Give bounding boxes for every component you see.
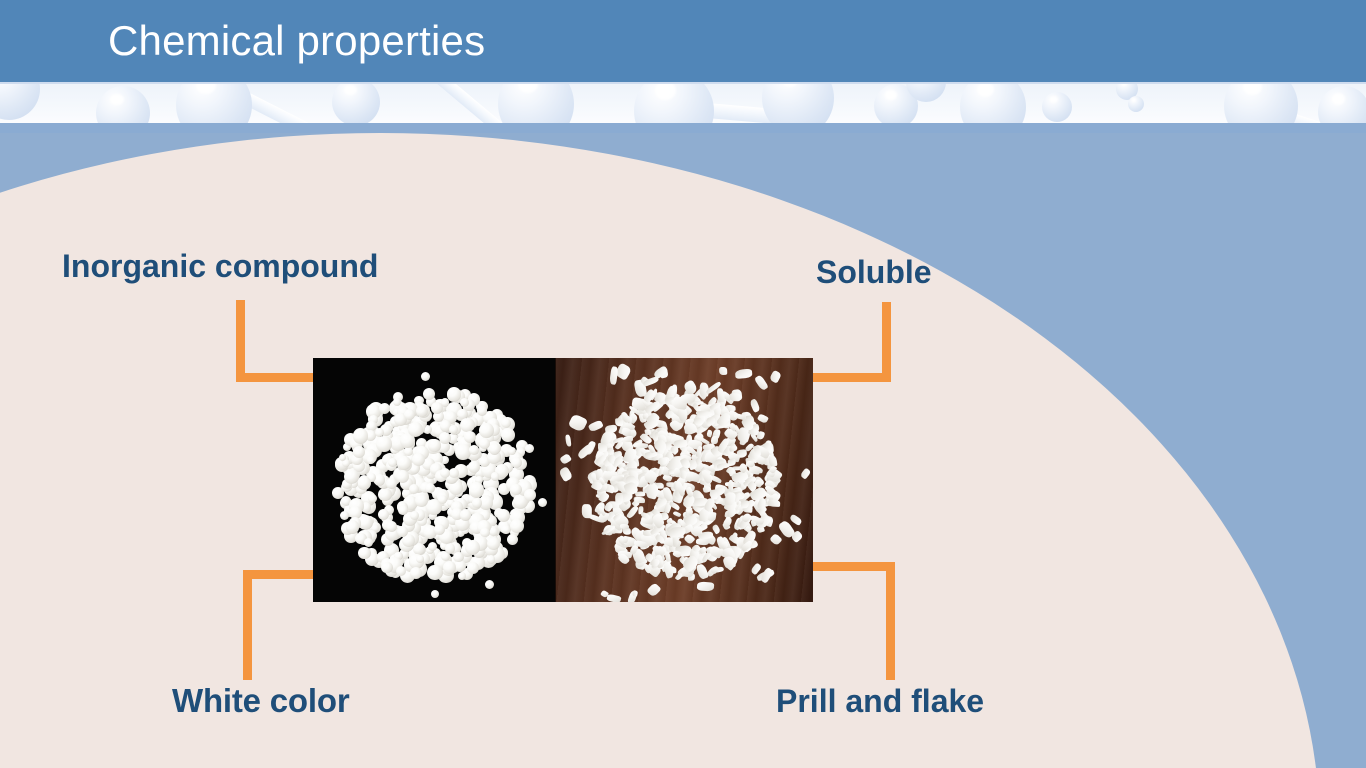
prill-particle [472, 498, 481, 507]
prill-particle [467, 562, 479, 574]
prill-particle [460, 418, 475, 433]
molecule-ball-icon [498, 82, 574, 123]
flake-particle [757, 413, 769, 423]
connector-segment-horizontal [236, 373, 320, 382]
prill-particle [510, 519, 524, 533]
prill-particle [415, 494, 428, 507]
prill-particle [353, 446, 365, 458]
flake-particle [696, 411, 712, 416]
connector-segment-vertical [886, 562, 895, 680]
prill-particle [469, 482, 485, 498]
flake-particle [672, 510, 681, 517]
flake-particle [746, 460, 754, 467]
prill-particle [379, 403, 390, 414]
flake-particle [768, 499, 780, 506]
connector-segment-vertical [243, 570, 252, 680]
label-white-color[interactable]: White color [172, 681, 349, 721]
prill-particle [428, 439, 440, 451]
prill-particle [368, 494, 377, 503]
prill-particle [404, 409, 415, 420]
flake-particle [588, 420, 604, 433]
flake-particle [717, 388, 725, 403]
prills-pane [313, 358, 555, 602]
prill-particle [346, 520, 360, 534]
molecule-ball-icon [1042, 92, 1072, 122]
flake-particle [614, 493, 623, 505]
label-inorganic-compound[interactable]: Inorganic compound [62, 246, 378, 286]
prill-particle [378, 509, 389, 520]
flake-particle [734, 369, 752, 380]
connector-segment-horizontal [810, 562, 895, 571]
prill-particle [421, 372, 430, 381]
connector-segment-vertical [882, 302, 891, 382]
molecule-ball-icon [1224, 82, 1298, 123]
prill-particle [353, 428, 368, 443]
molecule-ball-icon [332, 82, 380, 123]
prill-particle [479, 423, 493, 437]
prill-particle [388, 458, 397, 467]
prill-particle [469, 445, 479, 455]
flake-particle [800, 467, 811, 479]
prill-particle [465, 540, 480, 555]
prill-particle [339, 454, 346, 461]
molecule-ball-icon [96, 86, 150, 123]
prill-particle [525, 444, 534, 453]
page-title: Chemical properties [108, 13, 485, 69]
prill-particle [485, 580, 494, 589]
molecule-ball-icon [634, 82, 714, 123]
flake-particle [756, 431, 765, 441]
flake-particle [558, 466, 573, 482]
flake-particle [707, 511, 716, 521]
prill-particle [447, 387, 462, 402]
mid-blue-bar [0, 123, 1366, 133]
prill-particle [497, 509, 510, 522]
prill-particle [431, 590, 439, 598]
product-photo[interactable] [313, 358, 813, 602]
prill-particle [396, 470, 409, 483]
molecule-ball-icon [1318, 86, 1366, 123]
connector-segment-horizontal [243, 570, 321, 579]
flake-particle [789, 514, 803, 527]
flake-particle [697, 581, 715, 592]
flake-particle [560, 453, 572, 465]
flake-particle [623, 436, 633, 442]
connector-segment-horizontal [806, 373, 891, 382]
prill-particle [449, 468, 459, 478]
prill-particle [501, 418, 511, 428]
prill-particle [396, 566, 406, 576]
prill-particle [376, 436, 392, 452]
flake-particle [631, 590, 637, 597]
prill-particle [441, 398, 450, 407]
flake-particle [582, 504, 592, 518]
header-band: Chemical properties [0, 0, 1366, 82]
prill-particle [412, 453, 425, 466]
label-soluble[interactable]: Soluble [816, 252, 932, 292]
flake-particle [609, 366, 618, 385]
molecule-ball-icon [1128, 96, 1144, 112]
prill-particle [524, 489, 536, 501]
flake-particle [749, 398, 761, 413]
prill-particle [393, 398, 401, 406]
flake-particle [621, 427, 631, 436]
prill-particle [489, 443, 501, 455]
prill-particle [538, 498, 547, 507]
flake-particle [679, 393, 694, 402]
flake-particle [620, 524, 629, 529]
prill-particle [507, 534, 518, 545]
prill-particle [398, 505, 408, 515]
prill-particle [367, 456, 375, 464]
prill-particle [425, 483, 435, 493]
prill-particle [410, 567, 422, 579]
slide: Chemical properties Inorganic compound S… [0, 0, 1366, 768]
flake-particle [635, 497, 645, 503]
prill-particle [375, 428, 384, 437]
molecule-ball-icon [176, 82, 252, 123]
molecule-ball-icon [960, 82, 1026, 123]
photo-pane-divider [555, 358, 556, 602]
prill-particle [511, 457, 522, 468]
flake-particle [663, 561, 675, 578]
prill-particle [501, 428, 515, 442]
prill-particle [386, 521, 397, 532]
flake-particle [606, 594, 621, 602]
flake-particle [567, 413, 587, 432]
prill-particle [477, 405, 487, 415]
molecule-pattern-strip [0, 82, 1366, 123]
flake-particle [696, 563, 709, 580]
flake-particle [564, 434, 571, 447]
flakes-pane [555, 358, 813, 602]
prill-particle [340, 511, 349, 520]
flake-particle [769, 369, 782, 383]
prill-particle [464, 431, 476, 443]
prill-particle [445, 543, 456, 554]
prill-particle [487, 555, 496, 564]
flake-particle [718, 367, 726, 375]
flake-particle [754, 374, 769, 391]
label-prill-and-flake[interactable]: Prill and flake [776, 681, 984, 721]
flake-particle [769, 533, 782, 546]
flake-particle [740, 499, 748, 508]
prill-particle [397, 456, 411, 470]
prill-particle [364, 538, 373, 547]
molecule-ball-icon [762, 82, 834, 123]
strip-top-edge [0, 82, 1366, 84]
flake-particle [647, 582, 662, 597]
molecule-ball-icon [0, 82, 40, 120]
connector-segment-vertical [236, 300, 245, 382]
prill-particle [408, 422, 424, 438]
flake-particle [730, 393, 741, 402]
